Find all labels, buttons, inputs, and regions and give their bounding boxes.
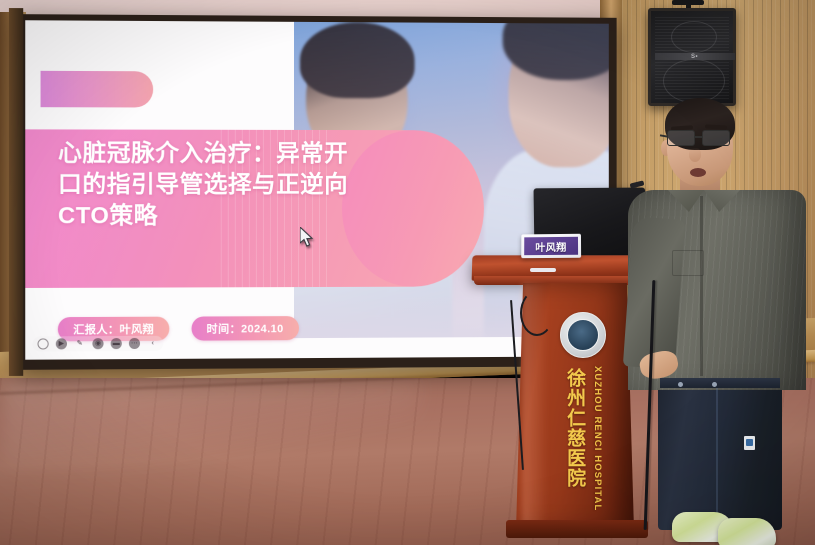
speaker-woofer: [663, 59, 725, 103]
person-trousers: [658, 378, 782, 530]
nameplate-panel: 叶风翔: [524, 237, 578, 255]
presentation-toolbar[interactable]: ▶ ✎ ◉ ▬ ⋯ ‹: [32, 335, 163, 351]
hospital-seal-inner: [567, 319, 599, 351]
more-options-icon[interactable]: ⋯: [129, 338, 140, 349]
decorative-pill-shape: [40, 71, 153, 107]
shirt-pocket: [672, 250, 704, 276]
pen-icon[interactable]: [37, 338, 48, 349]
shirt-placket: [700, 196, 703, 376]
presentation-scene: S• 心脏冠脉介入治疗: [0, 0, 815, 545]
highlighter-icon[interactable]: ✎: [74, 338, 85, 349]
trouser-seam: [716, 380, 718, 530]
trouser-button-right: [712, 382, 717, 387]
camera-icon[interactable]: ▬: [111, 338, 122, 349]
slide-title: 心脏冠脉介入治疗：异常开 口的指引导管选择与正逆向 CTO策略: [58, 137, 399, 232]
previous-slide-icon[interactable]: ‹: [147, 337, 158, 348]
nameplate-name: 叶风翔: [535, 238, 566, 253]
speaker-brand-mark: S•: [691, 54, 698, 60]
glasses-lens-left: [667, 130, 695, 146]
person-mouth: [690, 168, 706, 177]
laser-pointer-icon[interactable]: ◉: [92, 338, 103, 349]
date-badge: 时间：2024.10: [191, 316, 298, 341]
speaker-tweeter: [671, 21, 717, 53]
wall-loudspeaker: S•: [648, 8, 736, 106]
hospital-name-en: XUZHOU RENCI HOSPITAL: [592, 366, 603, 511]
person-nose: [689, 148, 701, 162]
slide-title-line-2: 口的指引导管选择与正逆向: [58, 169, 399, 201]
glasses-bridge: [695, 136, 703, 138]
cable-clip: [530, 268, 556, 272]
person-shoe-right: [718, 518, 776, 545]
person-glasses-icon: [664, 130, 736, 147]
glasses-lens-right: [702, 130, 730, 146]
trouser-button-left: [678, 382, 683, 387]
trouser-brand-tag: [744, 436, 755, 450]
hanging-cable-loop: [520, 290, 554, 336]
podium-base: [506, 520, 648, 538]
slide-title-line-3: CTO策略: [58, 200, 399, 232]
speaker-nameplate: XUZHOU RENCI HOSPITAL 叶风翔: [521, 234, 581, 258]
slide-title-line-1: 心脏冠脉介入治疗：异常开: [58, 137, 399, 169]
hospital-name-cn: 徐州仁慈医院: [564, 368, 584, 488]
play-icon[interactable]: ▶: [56, 338, 67, 349]
hospital-seal-logo: [560, 312, 606, 358]
